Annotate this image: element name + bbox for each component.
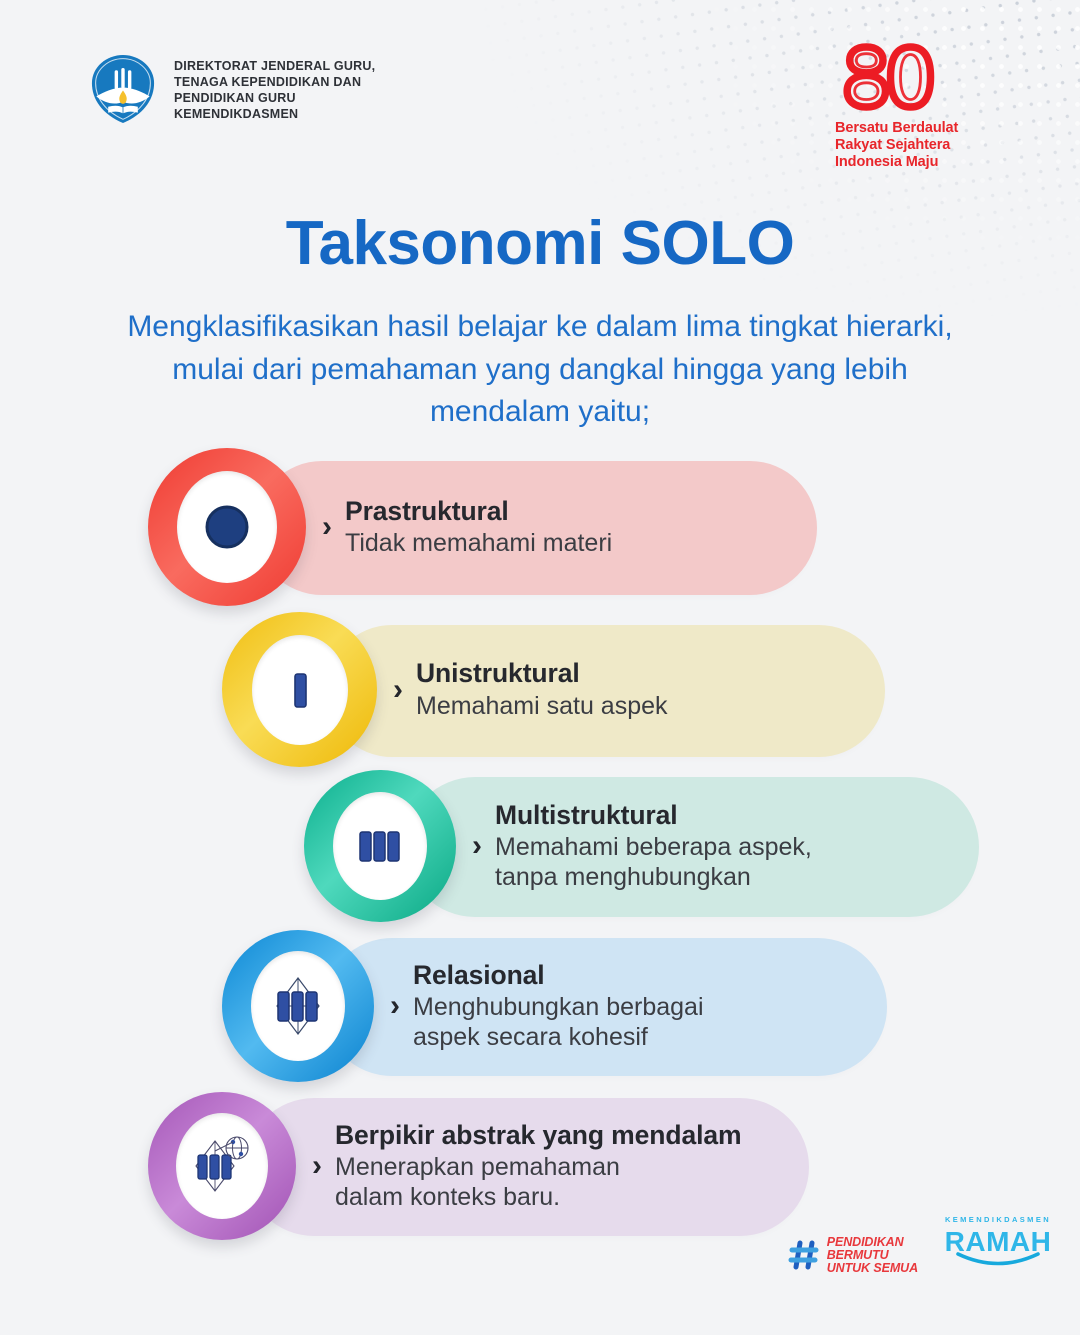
level-row-multistruktural[interactable]: › Multistruktural Memahami beberapa aspe… <box>304 770 970 922</box>
page-subtitle: Mengklasifikasikan hasil belajar ke dala… <box>110 306 970 434</box>
anniversary-80-logo <box>838 38 938 116</box>
level-row-unistruktural[interactable]: › Unistruktural Memahami satu aspek <box>222 612 876 767</box>
abstract-sphere-bars-icon <box>189 1133 255 1199</box>
level-description-2: Memahami satu aspek <box>416 691 854 721</box>
ramah-logo: KEMENDIKDASMEN RAMAH <box>944 1215 1052 1275</box>
level-title-3: Multistruktural <box>495 800 948 831</box>
campaign-text: PENDIDIKAN BERMUTU UNTUK SEMUA <box>827 1236 918 1275</box>
level-pill-2[interactable]: › Unistruktural Memahami satu aspek <box>333 632 876 748</box>
level-description-4: Menghubungkan berbagai aspek secara kohe… <box>413 992 856 1052</box>
level-pill-4[interactable]: › Relasional Menghubungkan berbagai aspe… <box>330 945 878 1067</box>
infographic-page: DIREKTORAT JENDERAL GURU, TENAGA KEPENDI… <box>0 0 1080 1335</box>
level-description-3: Memahami beberapa aspek, tanpa menghubun… <box>495 832 948 892</box>
page-title: Taksonomi SOLO <box>0 208 1080 279</box>
ministry-branding: DIREKTORAT JENDERAL GURU, TENAGA KEPENDI… <box>86 52 375 126</box>
level-title-2: Unistruktural <box>416 658 854 689</box>
three-bars-icon <box>349 818 411 874</box>
tut-wuri-handayani-logo <box>86 52 160 126</box>
anniversary-branding: Bersatu Berdaulat Rakyat Sejahtera Indon… <box>835 38 1025 171</box>
chevron-right-icon-5: › <box>312 1151 322 1181</box>
level-badge-1 <box>148 448 306 606</box>
chevron-right-icon-3: › <box>472 831 482 861</box>
level-description-1: Tidak memahami materi <box>345 528 786 558</box>
level-title-1: Prastruktural <box>345 496 786 527</box>
single-dot-icon <box>199 499 255 555</box>
level-title-4: Relasional <box>413 960 856 991</box>
hashtag-icon <box>788 1238 822 1272</box>
level-row-relasional[interactable]: › Relasional Menghubungkan berbagai aspe… <box>222 930 878 1082</box>
linked-bars-icon <box>266 973 330 1039</box>
ministry-name-text: DIREKTORAT JENDERAL GURU, TENAGA KEPENDI… <box>174 52 375 122</box>
chevron-right-icon-4: › <box>390 991 400 1021</box>
level-badge-4 <box>222 930 374 1082</box>
footer-logos: PENDIDIKAN BERMUTU UNTUK SEMUA KEMENDIKD… <box>788 1215 1052 1275</box>
level-badge-5 <box>148 1092 296 1240</box>
level-badge-3 <box>304 770 456 922</box>
level-pill-3[interactable]: › Multistruktural Memahami beberapa aspe… <box>412 784 970 908</box>
anniversary-tagline: Bersatu Berdaulat Rakyat Sejahtera Indon… <box>835 120 1025 171</box>
ramah-wordmark-icon: RAMAH <box>944 1224 1052 1270</box>
level-pill-1[interactable]: › Prastruktural Tidak memahami materi <box>262 468 808 586</box>
level-description-5: Menerapkan pemahaman dalam konteks baru. <box>335 1152 778 1212</box>
pendidikan-bermutu-logo: PENDIDIKAN BERMUTU UNTUK SEMUA <box>788 1236 918 1275</box>
level-row-prastruktural[interactable]: › Prastruktural Tidak memahami materi <box>148 448 808 606</box>
ramah-kementerian-text: KEMENDIKDASMEN <box>944 1215 1052 1224</box>
svg-text:RAMAH: RAMAH <box>945 1226 1052 1257</box>
one-bar-icon <box>272 662 328 718</box>
level-title-5: Berpikir abstrak yang mendalam <box>335 1120 778 1151</box>
level-row-berpikir-abstrak[interactable]: › Berpikir abstrak yang mendalam Menerap… <box>148 1092 800 1240</box>
chevron-right-icon-2: › <box>393 675 403 705</box>
level-badge-2 <box>222 612 377 767</box>
chevron-right-icon-1: › <box>322 512 332 542</box>
level-pill-5[interactable]: › Berpikir abstrak yang mendalam Menerap… <box>252 1105 800 1227</box>
